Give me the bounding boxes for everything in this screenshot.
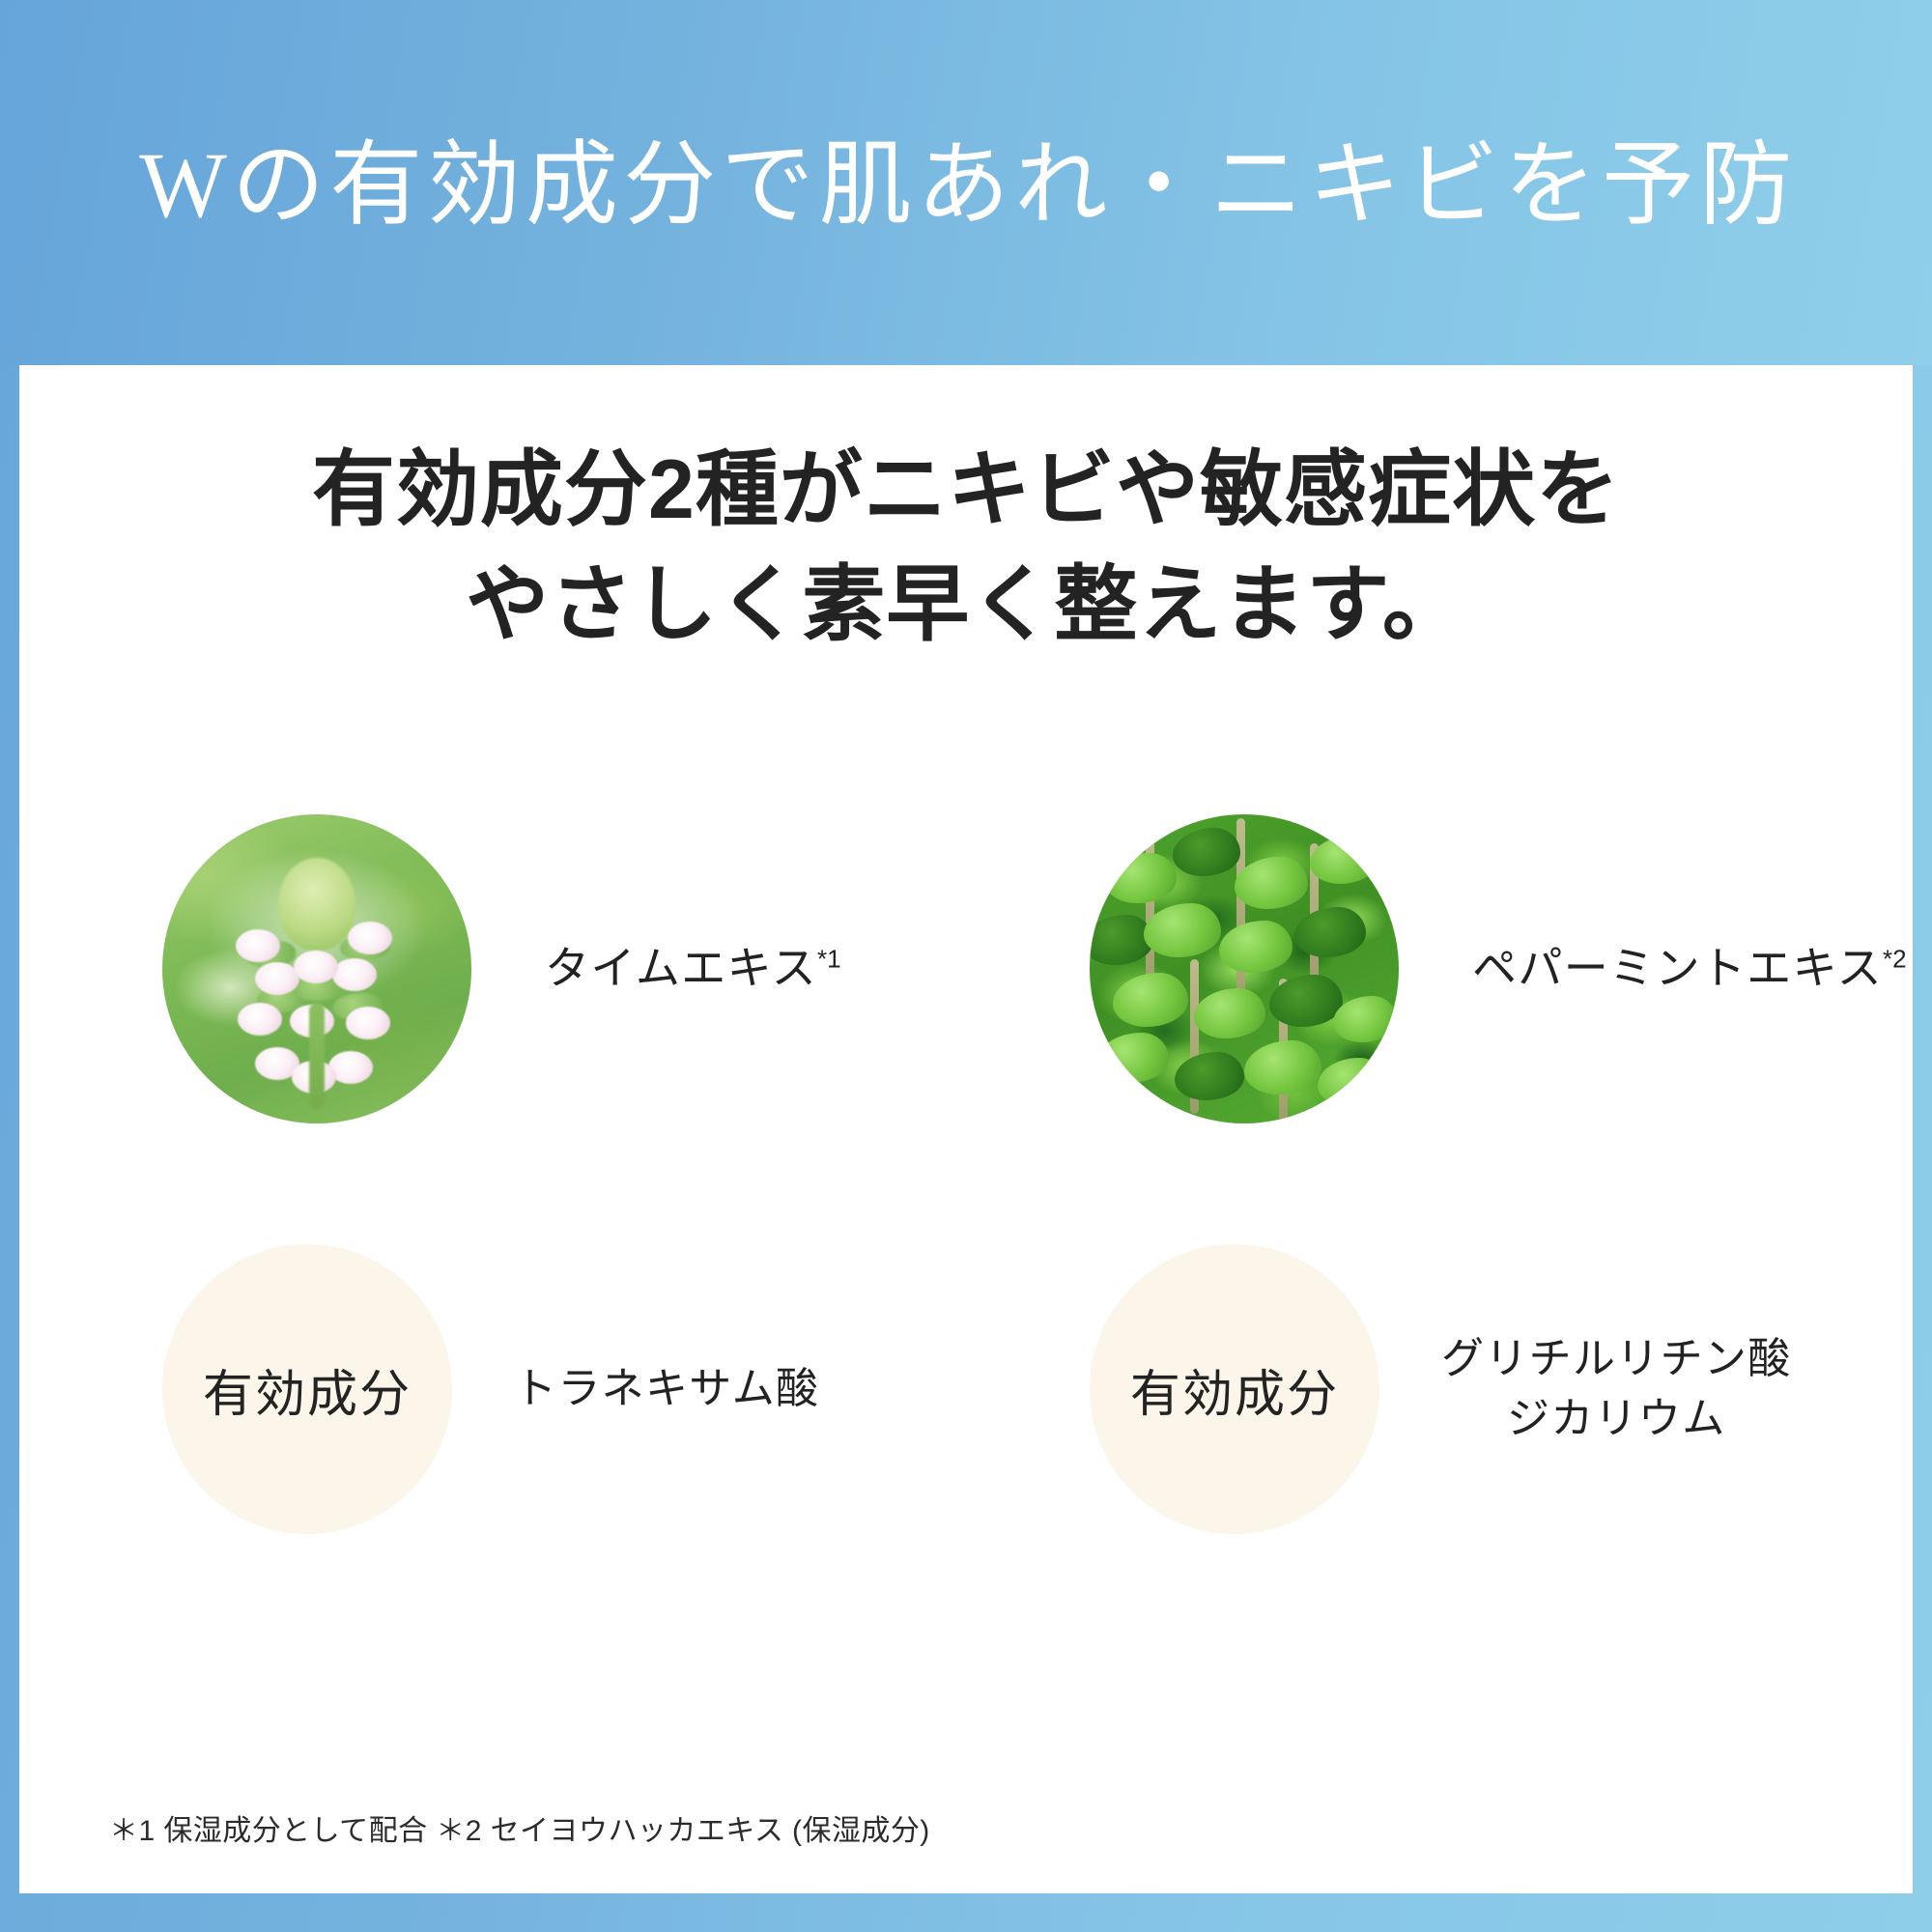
peppermint-ingredient-item: ペパーミントエキス*2 xyxy=(966,805,1913,1133)
main-heading-line-1: 有効成分2種がニキビや敏感症状を xyxy=(19,433,1913,548)
glycyrrhizinate-name-line-1: グリチルリチン酸 xyxy=(1441,1329,1792,1389)
footnote: ＊1 保湿成分として配合 ＊2 セイヨウハッカエキス (保湿成分) xyxy=(109,1806,930,1849)
main-heading: 有効成分2種がニキビや敏感症状を やさしく素早く整えます。 xyxy=(19,433,1913,662)
thyme-petal-icon xyxy=(236,929,280,962)
main-heading-line-2: やさしく素早く整えます。 xyxy=(19,548,1913,663)
plant-ingredient-row: タイムエキス*1 xyxy=(19,805,1913,1133)
thyme-petal-icon xyxy=(238,1003,282,1036)
thyme-stem-icon xyxy=(309,1003,325,1109)
content-card: 有効成分2種がニキビや敏感症状を やさしく素早く整えます。 xyxy=(19,365,1913,1893)
peppermint-photo xyxy=(1090,814,1399,1123)
mint-leaf-icon xyxy=(1235,857,1308,909)
active-ingredient-row: 有効成分 トラネキサム酸 有効成分 グリチルリチン酸 ジカリウム xyxy=(19,1230,1913,1548)
mint-leaf-icon xyxy=(1105,853,1177,903)
mint-leaf-icon xyxy=(1173,828,1240,876)
glycyrrhizinate-name-line-2: ジカリウム xyxy=(1441,1389,1792,1449)
mint-leaf-icon xyxy=(1144,903,1221,957)
thyme-ingredient-item: タイムエキス*1 xyxy=(19,805,966,1133)
mint-leaf-icon xyxy=(1175,1052,1244,1100)
active-badge-circle-right: 有効成分 xyxy=(1090,1244,1379,1534)
active-badge-label-right: 有効成分 xyxy=(1130,1353,1339,1426)
thyme-label-text: タイムエキス xyxy=(545,943,817,993)
dipotassium-glycyrrhizinate-item: 有効成分 グリチルリチン酸 ジカリウム xyxy=(966,1230,1913,1548)
active-badge-label-left: 有効成分 xyxy=(203,1353,412,1426)
dipotassium-glycyrrhizinate-label: グリチルリチン酸 ジカリウム xyxy=(1379,1329,1792,1450)
thyme-petal-icon xyxy=(332,958,377,991)
thyme-label-footnote-marker: *1 xyxy=(817,945,841,974)
peppermint-label-text: ペパーミントエキス xyxy=(1472,943,1883,993)
thyme-flower-spike xyxy=(240,858,394,1099)
mint-leaf-icon xyxy=(1097,1033,1169,1083)
thyme-petal-icon xyxy=(346,1007,390,1039)
peppermint-label: ペパーミントエキス*2 xyxy=(1399,937,1907,1000)
peppermint-label-footnote-marker: *2 xyxy=(1883,945,1907,974)
tranexamic-acid-name-line-1: トラネキサム酸 xyxy=(514,1359,819,1419)
mint-leaf-icon xyxy=(1113,973,1188,1027)
poster-root: Wの有効成分で肌あれ・ニキビを予防 有効成分2種がニキビや敏感症状を やさしく素… xyxy=(0,0,1932,1932)
mint-leaf-icon xyxy=(1318,1058,1385,1106)
mint-leaf-icon xyxy=(1310,836,1378,884)
mint-leaf-icon xyxy=(1294,907,1366,957)
mint-leaf-icon xyxy=(1194,988,1265,1038)
thyme-petal-icon xyxy=(348,922,392,954)
mint-leaf-icon xyxy=(1219,921,1293,973)
tranexamic-acid-item: 有効成分 トラネキサム酸 xyxy=(19,1230,966,1548)
thyme-bud-icon xyxy=(278,858,355,951)
active-badge-circle-left: 有効成分 xyxy=(162,1244,452,1534)
header-title: Wの有効成分で肌あれ・ニキビを予防 xyxy=(134,133,1797,232)
thyme-petal-icon xyxy=(294,951,338,983)
mint-leaf-icon xyxy=(1244,1040,1321,1094)
header-band: Wの有効成分で肌あれ・ニキビを予防 xyxy=(0,0,1932,365)
thyme-photo xyxy=(162,814,471,1123)
tranexamic-acid-label: トラネキサム酸 xyxy=(452,1359,819,1419)
thyme-label: タイムエキス*1 xyxy=(471,937,841,1000)
